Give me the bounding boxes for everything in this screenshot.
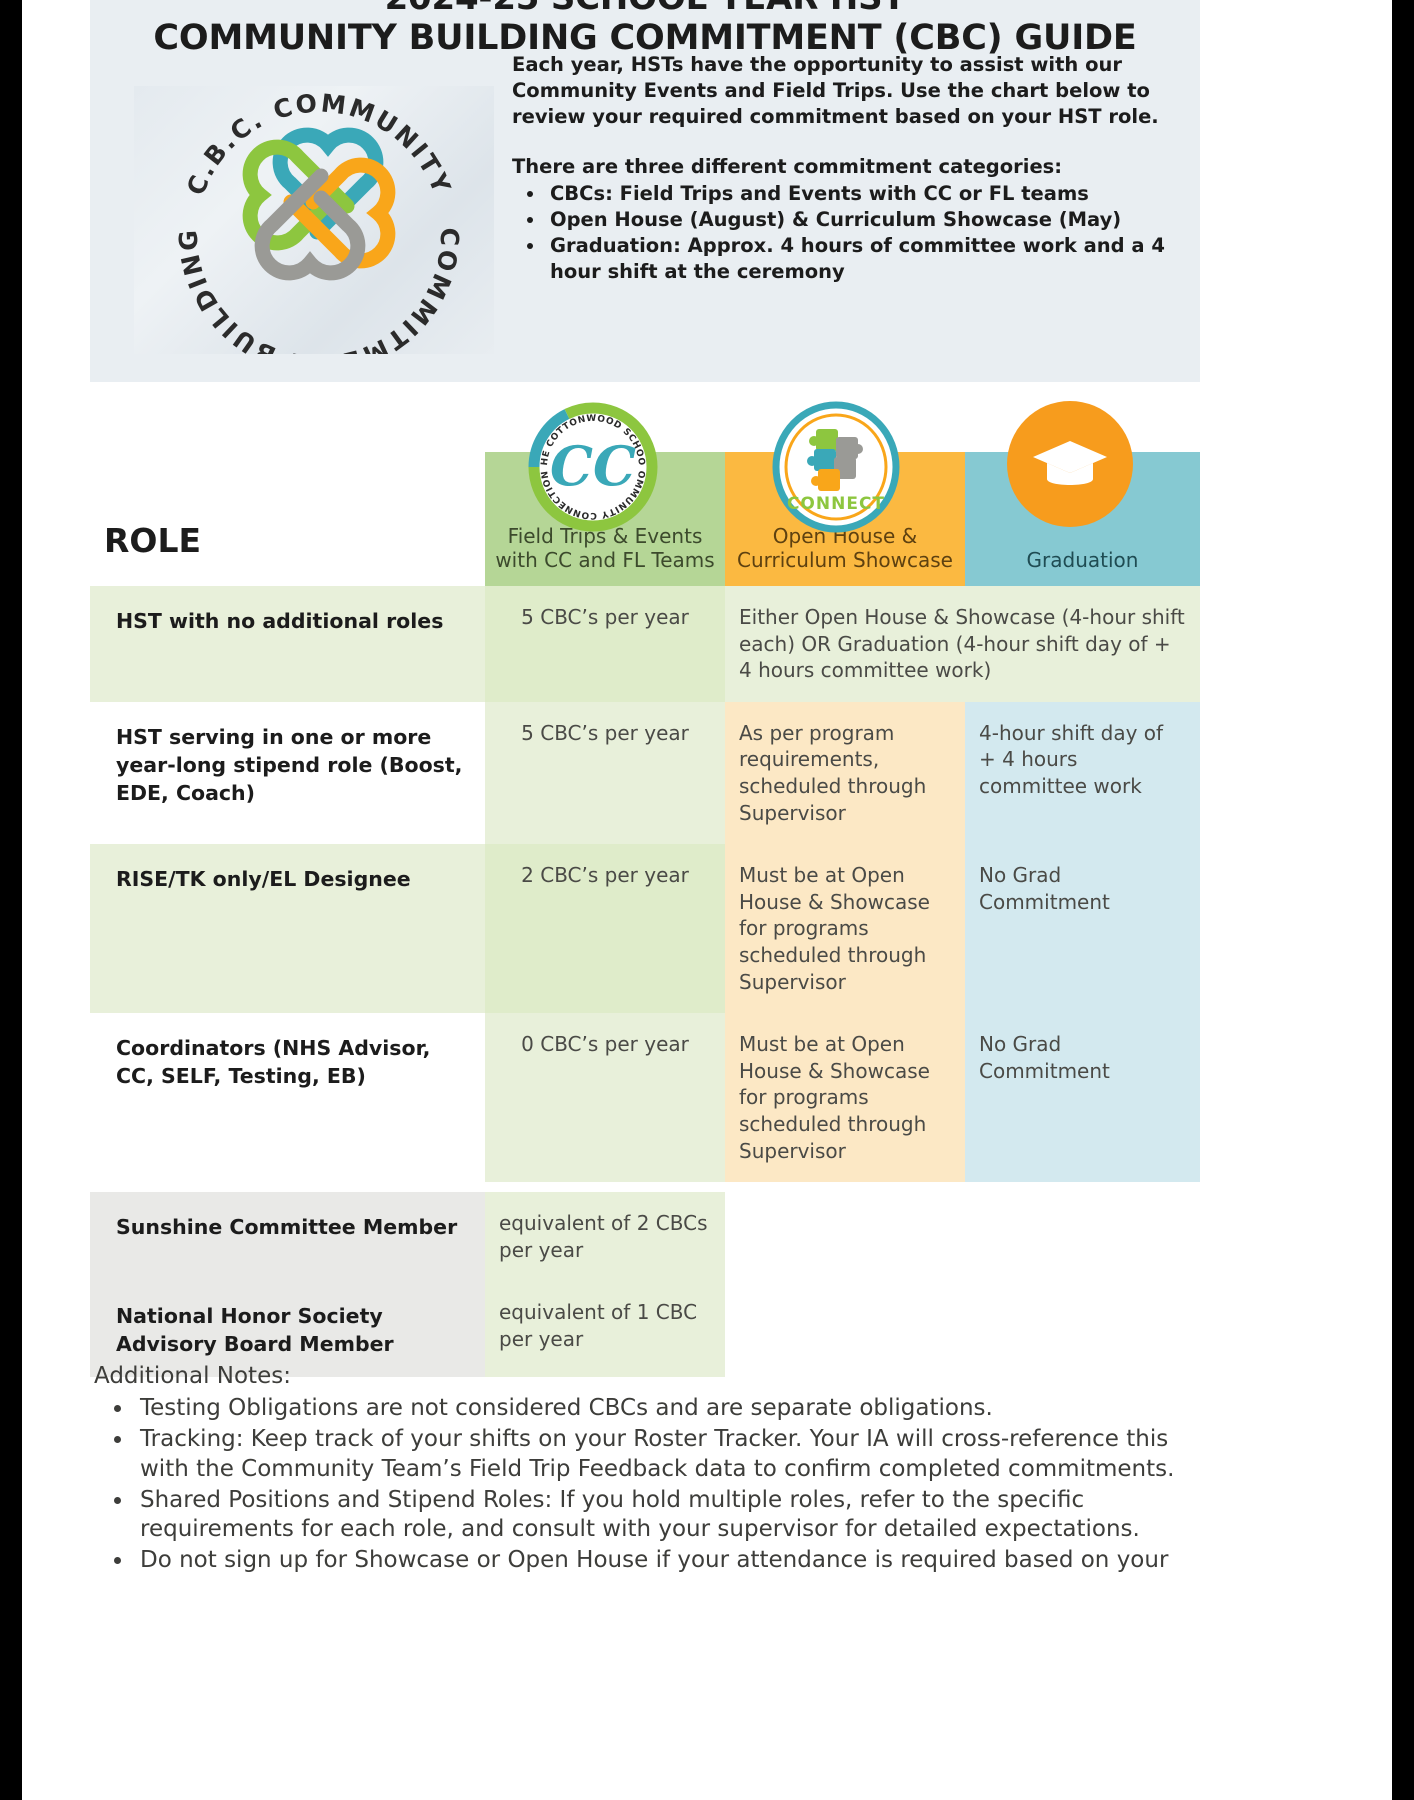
category-item-open-house: Open House (August) & Curriculum Showcas… [546,207,1192,233]
cc-community-connections-icon: THE COTTONWOOD SCHOOL COMMUNITY CONNECTI… [527,401,659,533]
row-cbc-value: equivalent of 2 CBCs per year [485,1192,725,1281]
row-open-house-value: Must be at Open House & Showcase for pro… [725,844,965,1013]
connect-puzzle-icon: CONNECT [770,401,902,533]
row-graduation-value: 4-hour shift day of + 4 hours committee … [965,702,1200,844]
commitment-table: ROLE Field Trips & Events with CC and FL… [90,452,1200,1377]
row-role-label: Coordinators (NHS Advisor, CC, SELF, Tes… [90,1013,485,1182]
category-item-graduation: Graduation: Approx. 4 hours of committee… [546,233,1192,285]
table-row: RISE/TK only/EL Designee 2 CBC’s per yea… [90,844,1200,1013]
row-role-label: RISE/TK only/EL Designee [90,844,485,1013]
title-line-1: 2024-25 SCHOOL YEAR HST [90,0,1200,18]
row-cbc-value: 5 CBC’s per year [485,702,725,844]
row-graduation-value: No Grad Commitment [965,1013,1200,1182]
table-row: HST serving in one or more year-long sti… [90,702,1200,844]
commitment-category-list: CBCs: Field Trips and Events with CC or … [546,181,1192,286]
header-banner: 2024-25 SCHOOL YEAR HST COMMUNITY BUILDI… [90,0,1200,382]
category-item-cbcs: CBCs: Field Trips and Events with CC or … [546,181,1192,207]
row-cbc-value: 2 CBC’s per year [485,844,725,1013]
page-root: 2024-25 SCHOOL YEAR HST COMMUNITY BUILDI… [0,0,1414,1800]
svg-text:CC: CC [550,434,636,498]
table-row: Coordinators (NHS Advisor, CC, SELF, Tes… [90,1013,1200,1182]
svg-text:CONNECT: CONNECT [787,494,885,514]
table-row: Sunshine Committee Member equivalent of … [90,1192,1200,1281]
graduation-cap-icon [1007,401,1133,527]
row-cbc-value: 0 CBC’s per year [485,1013,725,1182]
svg-text:COMMITMENT. BUILDING: COMMITMENT. BUILDING [174,227,465,354]
row-open-house-value: As per program requirements, scheduled t… [725,702,965,844]
document-title: 2024-25 SCHOOL YEAR HST COMMUNITY BUILDI… [90,0,1200,59]
note-item-testing: Testing Obligations are not considered C… [134,1394,1204,1424]
intro-paragraph: Each year, HSTs have the opportunity to … [512,52,1192,130]
note-item-shared-positions: Shared Positions and Stipend Roles: If y… [134,1486,1204,1546]
row-open-house-value: Must be at Open House & Showcase for pro… [725,1013,965,1182]
document-sheet: 2024-25 SCHOOL YEAR HST COMMUNITY BUILDI… [22,0,1392,1800]
cbc-circular-logo: C.B.C. COMMUNITY COMMITMENT. BUILDING [152,86,482,354]
row-merged-value: Either Open House & Showcase (4-hour shi… [725,586,1200,702]
row-role-label: HST serving in one or more year-long sti… [90,702,485,844]
row-role-label: HST with no additional roles [90,586,485,702]
row-open-house-empty [725,1192,965,1281]
notes-title: Additional Notes: [94,1362,1204,1392]
role-column-header: ROLE [90,452,485,586]
additional-notes-section: Additional Notes: Testing Obligations ar… [94,1362,1204,1577]
notes-list: Testing Obligations are not considered C… [134,1394,1204,1576]
note-item-tracking: Tracking: Keep track of your shifts on y… [134,1425,1204,1485]
row-graduation-value: No Grad Commitment [965,844,1200,1013]
cbc-logo-photo-backdrop: C.B.C. COMMUNITY COMMITMENT. BUILDING [134,86,494,354]
row-role-label: Sunshine Committee Member [90,1192,485,1281]
categories-lead: There are three different commitment cat… [512,154,1192,180]
note-item-signup: Do not sign up for Showcase or Open Hous… [134,1546,1204,1576]
intro-text-block: Each year, HSTs have the opportunity to … [512,52,1192,285]
row-cbc-value: 5 CBC’s per year [485,586,725,702]
table-row: HST with no additional roles 5 CBC’s per… [90,586,1200,702]
row-graduation-empty [965,1192,1200,1281]
